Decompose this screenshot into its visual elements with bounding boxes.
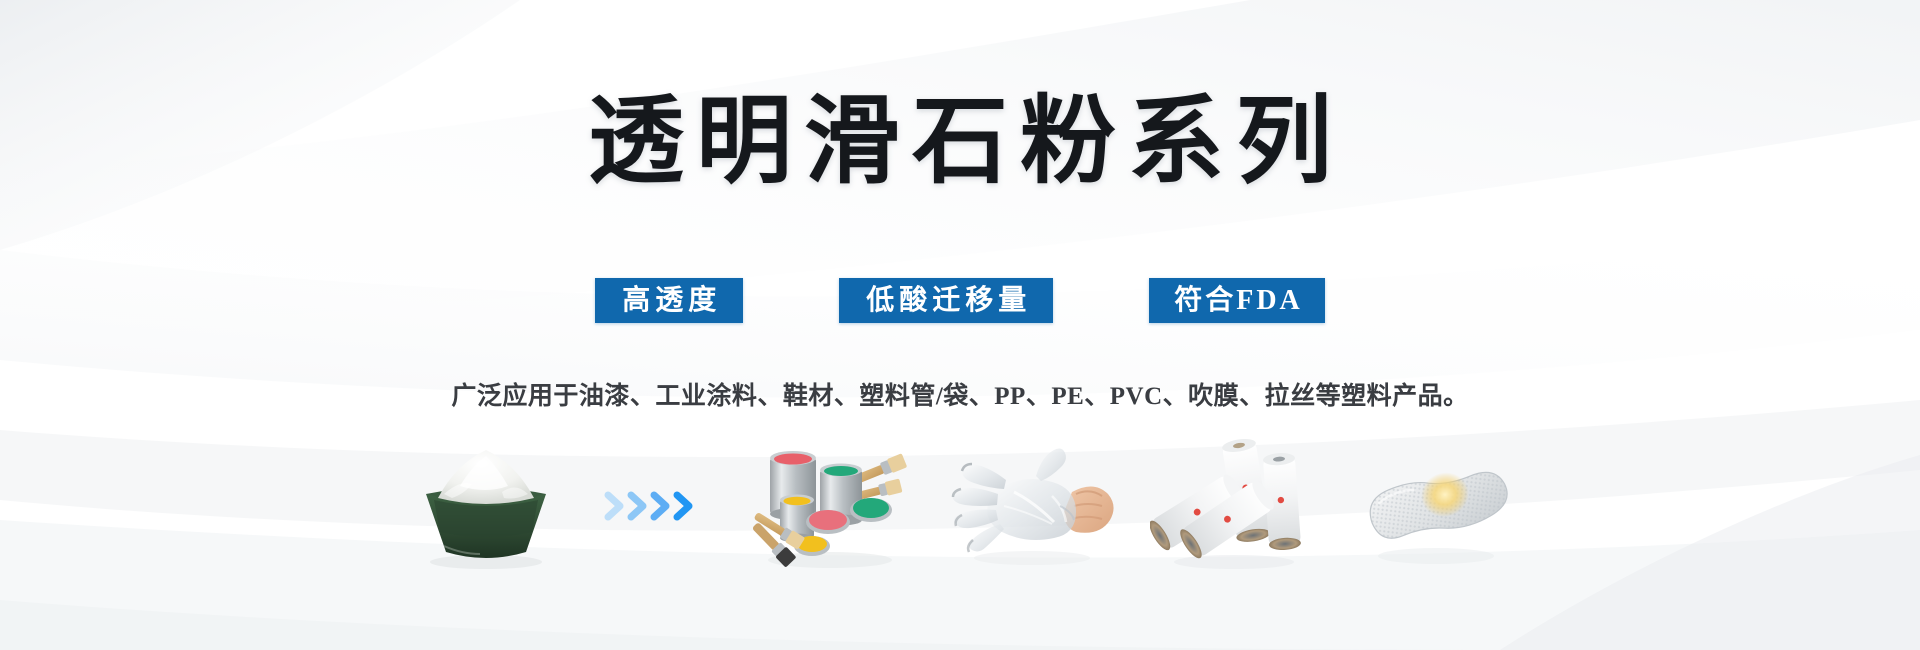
paint-cans-image — [746, 436, 914, 576]
page-title: 透明滑石粉系列 — [576, 86, 1344, 197]
title-container: 透明滑石粉系列 — [0, 86, 1920, 197]
shoe-sole-image — [1352, 436, 1520, 576]
talc-powder-bowl-image — [400, 436, 568, 576]
plastic-glove-image — [948, 436, 1116, 576]
badge-low-acid-migration[interactable]: 低酸迁移量 — [839, 278, 1053, 323]
feature-badge-group: 高透度 低酸迁移量 符合FDA — [0, 278, 1920, 323]
product-application-strip — [0, 436, 1920, 576]
badge-high-transparency[interactable]: 高透度 — [595, 278, 743, 323]
promo-banner: 透明滑石粉系列 高透度 低酸迁移量 符合FDA 广泛应用于油漆、工业涂料、鞋材、… — [0, 0, 1920, 650]
application-description: 广泛应用于油漆、工业涂料、鞋材、塑料管/袋、PP、PE、PVC、吹膜、拉丝等塑料… — [0, 376, 1920, 412]
plastic-film-rolls-image — [1150, 436, 1318, 576]
arrow-chevrons-icon — [602, 476, 712, 536]
badge-fda-compliant[interactable]: 符合FDA — [1149, 278, 1325, 323]
